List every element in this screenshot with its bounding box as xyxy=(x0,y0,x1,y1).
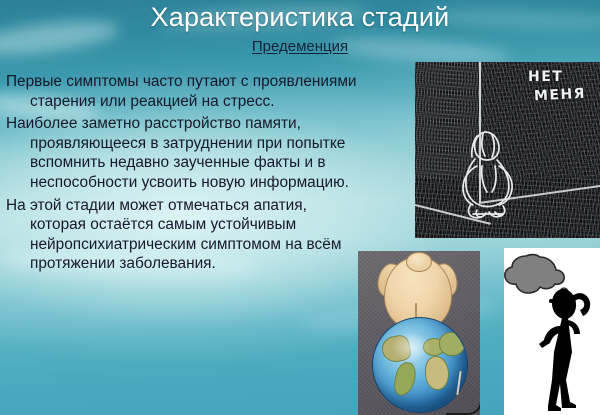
slide-canvas: Характеристика стадий Предеменция Первые… xyxy=(0,0,600,415)
slide-title: Характеристика стадий xyxy=(0,0,600,34)
globe-landmass xyxy=(439,332,465,356)
globe-landmass xyxy=(392,361,418,398)
charcoal-wall-text-line-2: МЕНЯ xyxy=(528,84,595,105)
image-figure-sitting-on-globe-lamp xyxy=(358,251,480,415)
stick-figure-illustration xyxy=(504,248,600,415)
charcoal-wall-text: НЕТ МЕНЯ xyxy=(528,68,594,104)
body-paragraph-3: На этой стадии может отмечаться апатия, … xyxy=(6,196,358,274)
slide-subtitle-text: Предеменция xyxy=(252,38,348,55)
image-charcoal-drawing-crouching-figure: НЕТ МЕНЯ xyxy=(415,62,600,238)
slide-body-text: Первые симптомы часто путают с проявлени… xyxy=(6,72,358,275)
body-paragraph-2: Наиболее заметно расстройство памяти, пр… xyxy=(6,114,358,192)
slide-subtitle: Предеменция xyxy=(0,36,600,57)
globe-lamp-cord xyxy=(446,391,480,415)
globe-landmass xyxy=(425,356,449,390)
image-stick-figure-with-empty-thought-bubble xyxy=(504,248,600,415)
body-paragraph-1: Первые симптомы часто путают с проявлени… xyxy=(6,72,358,111)
stick-figure-silhouette xyxy=(539,287,590,411)
globe-highlight xyxy=(391,332,431,362)
charcoal-figure-outline xyxy=(451,126,537,222)
charcoal-wall-text-line-1: НЕТ xyxy=(528,69,563,85)
globe-figure-head xyxy=(406,252,432,272)
